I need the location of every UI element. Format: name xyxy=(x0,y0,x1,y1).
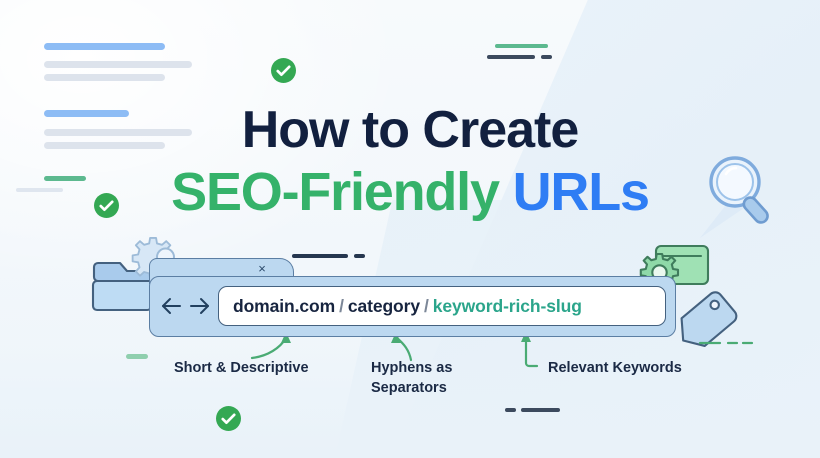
arrow-right-icon[interactable] xyxy=(191,299,208,313)
decor-line xyxy=(521,408,560,412)
decor-line xyxy=(126,354,148,359)
callout-short-descriptive: Short & Descriptive xyxy=(174,359,309,379)
callout-label-line1: Hyphens as xyxy=(371,359,452,379)
callout-relevant-keywords: Relevant Keywords xyxy=(548,359,682,379)
url-slug: keyword-rich-slug xyxy=(433,296,582,317)
decor-line xyxy=(44,74,165,81)
title-highlight-urls: URLs xyxy=(513,162,649,222)
callout-hyphens-separators: Hyphens as Separators xyxy=(371,359,452,398)
check-icon xyxy=(271,58,296,83)
callout-label-line1: Relevant Keywords xyxy=(548,360,682,376)
url-category: category xyxy=(348,296,420,317)
decor-line xyxy=(495,44,548,48)
poster-canvas: How to Create SEO-Friendly URLs × domain… xyxy=(0,0,820,458)
callout-label-line2: Separators xyxy=(371,379,452,399)
page-title: How to Create SEO-Friendly URLs xyxy=(0,102,820,223)
decor-line xyxy=(505,408,516,412)
decor-line xyxy=(354,254,365,258)
arrow-left-icon[interactable] xyxy=(163,299,180,313)
decor-line xyxy=(44,61,192,68)
url-separator-2: / xyxy=(420,296,433,317)
decor-line xyxy=(44,43,165,50)
url-domain: domain.com xyxy=(233,296,335,317)
url-separator-1: / xyxy=(335,296,348,317)
browser-nav-arrows xyxy=(160,294,212,318)
check-icon xyxy=(216,406,241,431)
decor-line xyxy=(541,55,552,59)
title-line-2: SEO-Friendly URLs xyxy=(0,162,820,222)
decor-line xyxy=(292,254,348,258)
callout-label-line1: Short & Descriptive xyxy=(174,360,309,376)
decor-line xyxy=(487,55,535,59)
title-line-1: How to Create xyxy=(0,102,820,158)
close-icon[interactable]: × xyxy=(255,262,269,276)
title-highlight-seo: SEO-Friendly xyxy=(171,162,499,222)
url-input[interactable]: domain.com / category / keyword-rich-slu… xyxy=(218,286,666,326)
